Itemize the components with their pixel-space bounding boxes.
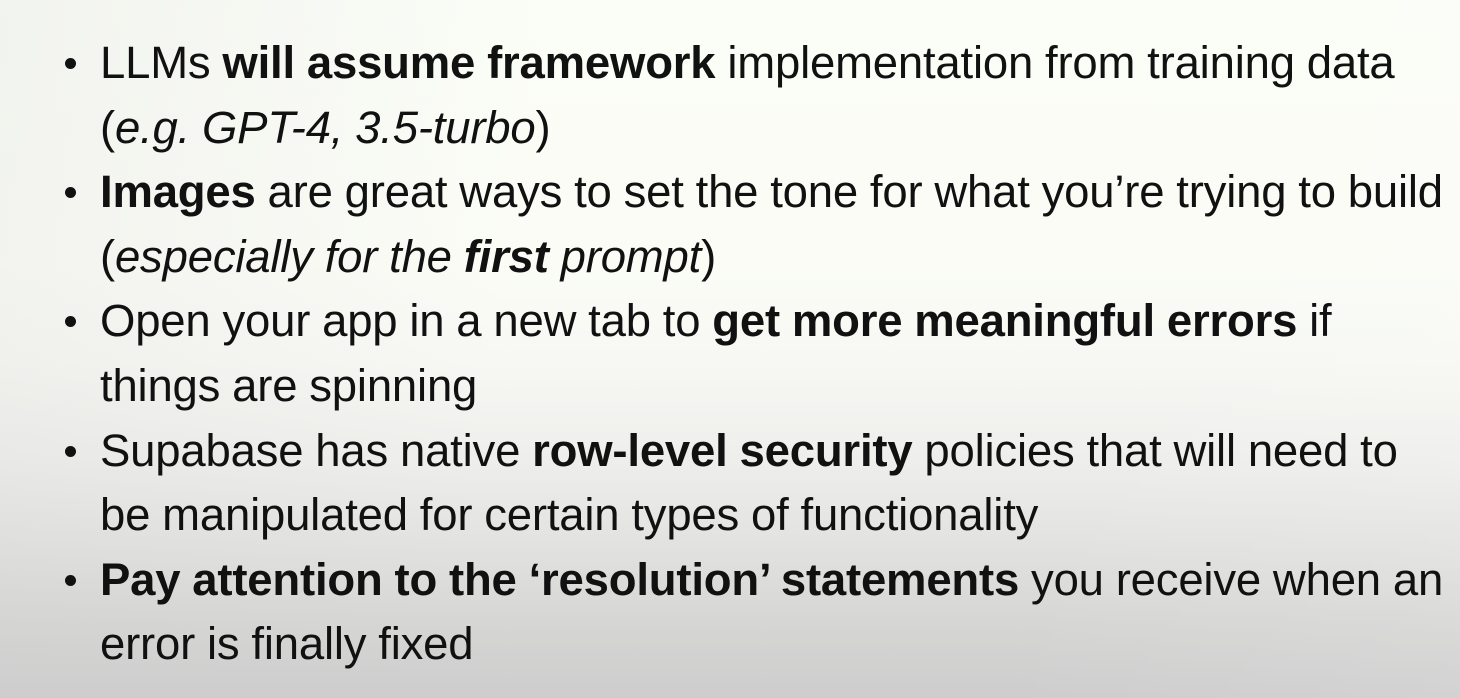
list-item: Supabase has native row-level security p… xyxy=(62,419,1450,548)
text-run: row-level security xyxy=(532,425,912,476)
bullet-point-icon xyxy=(65,548,78,613)
slide-canvas: LLMs will assume framework implementatio… xyxy=(0,0,1460,698)
bullet-point-icon xyxy=(65,419,78,484)
list-item: LLMs will assume framework implementatio… xyxy=(62,31,1450,160)
text-run: Pay attention to the ‘resolution’ statem… xyxy=(100,554,1019,605)
text-run: prompt xyxy=(549,231,701,282)
text-run: Supabase has native xyxy=(100,425,532,476)
text-run: ) xyxy=(701,231,716,282)
list-item-text: Images are great ways to set the tone fo… xyxy=(100,160,1450,289)
list-item-text: Pay attention to the ‘resolution’ statem… xyxy=(100,548,1450,677)
text-run: Open your app in a new tab to xyxy=(100,295,712,346)
list-item-text: Open your app in a new tab to get more m… xyxy=(100,289,1450,418)
list-item-text: Supabase has native row-level security p… xyxy=(100,419,1450,548)
text-run: will assume framework xyxy=(222,37,715,88)
bullet-point-icon xyxy=(65,160,78,225)
bullet-point-icon xyxy=(65,31,78,96)
text-run: get more meaningful errors xyxy=(712,295,1297,346)
text-run: e.g. GPT-4, 3.5-turbo xyxy=(115,102,536,153)
text-run: Images xyxy=(100,166,256,217)
text-run: LLMs xyxy=(100,37,222,88)
text-run: ) xyxy=(536,102,551,153)
list-item: Pay attention to the ‘resolution’ statem… xyxy=(62,548,1450,677)
bullet-list: LLMs will assume framework implementatio… xyxy=(0,0,1460,677)
list-item: Open your app in a new tab to get more m… xyxy=(62,289,1450,418)
list-item-text: LLMs will assume framework implementatio… xyxy=(100,31,1450,160)
bullet-point-icon xyxy=(65,289,78,354)
text-run: especially for the xyxy=(115,231,464,282)
list-item: Images are great ways to set the tone fo… xyxy=(62,160,1450,289)
text-run: first xyxy=(464,231,549,282)
